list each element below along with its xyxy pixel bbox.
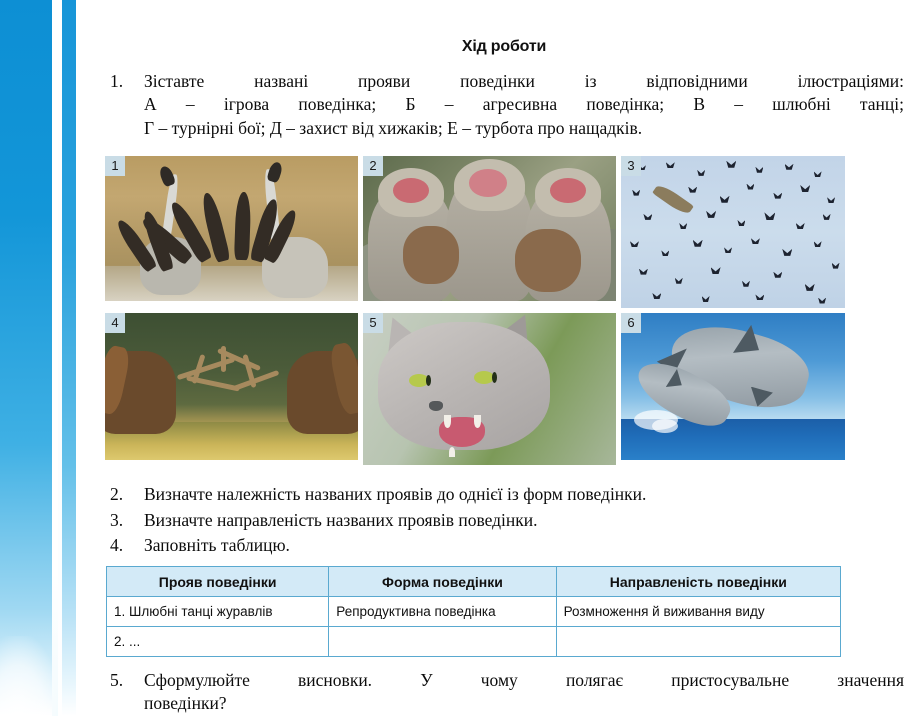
task-item-5: 5. Сформулюйте висновки. У чому полягає …: [104, 669, 904, 714]
task-item-3: 3. Визначте направленість названих прояв…: [104, 509, 904, 531]
illustration-4-scene: [105, 313, 358, 460]
illustration-badge-1: 1: [105, 156, 125, 176]
page-title: Хід роботи: [100, 0, 908, 56]
task-body-3: Визначте направленість названих проявів …: [144, 509, 904, 531]
illustration-2-macaques[interactable]: 2: [363, 156, 616, 301]
deco-stripe-white: [76, 0, 100, 716]
illustration-1-cranes[interactable]: 1: [105, 156, 358, 301]
task-item-2: 2. Визначте належність названих проявів …: [104, 483, 904, 505]
table-cell-manifestation-2[interactable]: 2. ...: [107, 627, 329, 657]
illustration-6-scene: [621, 313, 845, 460]
task-number-2: 2.: [104, 483, 144, 505]
task-number-3: 3.: [104, 509, 144, 531]
illustration-badge-3: 3: [621, 156, 641, 176]
illustration-badge-4: 4: [105, 313, 125, 333]
illustration-badge-5: 5: [363, 313, 383, 333]
illustration-row-1: 1: [105, 156, 845, 308]
table-header-direction: Направленість поведінки: [556, 567, 840, 597]
task-1-line-2: А – ігрова поведінка; Б – агресивна пове…: [144, 93, 904, 115]
table-header-row: Прояв поведінки Форма поведінки Направле…: [107, 567, 841, 597]
table-row: 2. ...: [107, 627, 841, 657]
table-cell-form-1[interactable]: Репродуктивна поведінка: [329, 597, 556, 627]
illustration-3-starling-flock[interactable]: 3: [621, 156, 845, 308]
table-row: 1. Шлюбні танці журавлів Репродуктивна п…: [107, 597, 841, 627]
table-cell-manifestation-1[interactable]: 1. Шлюбні танці журавлів: [107, 597, 329, 627]
illustration-badge-6: 6: [621, 313, 641, 333]
task-1-line-3: Г – турнірні бої; Д – захист від хижаків…: [144, 117, 904, 139]
illustration-3-scene: [621, 156, 845, 308]
task-item-4: 4. Заповніть таблицю.: [104, 534, 904, 556]
task-5-line-1: Сформулюйте висновки. У чому полягає при…: [144, 669, 904, 691]
behaviour-answer-table: Прояв поведінки Форма поведінки Направле…: [106, 566, 841, 657]
table-cell-form-2[interactable]: [329, 627, 556, 657]
task-number-1: 1.: [104, 70, 144, 140]
illustration-badge-2: 2: [363, 156, 383, 176]
deco-stripe-primary: [0, 0, 52, 716]
deco-cloud: [0, 636, 60, 716]
illustration-5-hissing-cat[interactable]: 5: [363, 313, 616, 465]
illustration-4-stags-fighting[interactable]: 4: [105, 313, 358, 460]
task-body-5: Сформулюйте висновки. У чому полягає при…: [144, 669, 904, 714]
task-number-4: 4.: [104, 534, 144, 556]
tasks-group-middle: 2. Визначте належність названих проявів …: [100, 483, 908, 556]
table-header-form: Форма поведінки: [329, 567, 556, 597]
task-body-2: Визначте належність названих проявів до …: [144, 483, 904, 505]
illustration-1-scene: [105, 156, 358, 301]
task-1-line-1: Зіставте названі прояви поведінки із від…: [144, 70, 904, 92]
table-header-manifestation: Прояв поведінки: [107, 567, 329, 597]
task-5-line-2: поведінки?: [144, 692, 904, 714]
table-cell-direction-2[interactable]: [556, 627, 840, 657]
task-item-1: 1. Зіставте названі прояви поведінки із …: [104, 70, 904, 140]
illustration-row-2: 4 5: [105, 313, 845, 465]
page-content: Хід роботи 1. Зіставте названі прояви по…: [100, 0, 908, 716]
illustration-grid: 1: [105, 156, 845, 465]
illustration-6-dolphins[interactable]: 6: [621, 313, 845, 460]
illustration-5-scene: [363, 313, 616, 465]
task-body-1: Зіставте названі прояви поведінки із від…: [144, 70, 904, 140]
deco-stripe-secondary: [62, 0, 76, 716]
table-cell-direction-1[interactable]: Розмноження й виживання виду: [556, 597, 840, 627]
task-number-5: 5.: [104, 669, 144, 714]
left-decorative-band: [0, 0, 100, 716]
task-body-4: Заповніть таблицю.: [144, 534, 904, 556]
illustration-2-scene: [363, 156, 616, 301]
